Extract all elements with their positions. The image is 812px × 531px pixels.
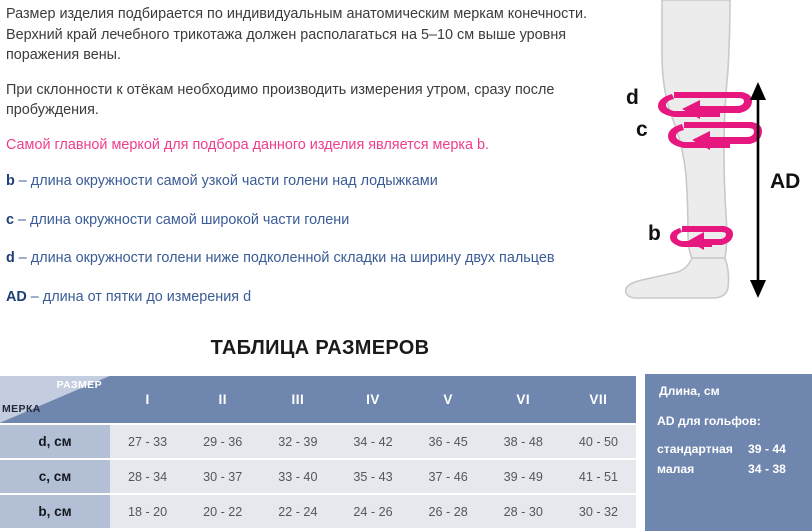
size-table: РАЗМЕР МЕРКА I II III IV V VI VII d, см … xyxy=(0,374,636,530)
cell-c-1: 28 - 34 xyxy=(110,460,185,493)
cell-c-7: 41 - 51 xyxy=(561,460,636,493)
ad-length-arrow-icon xyxy=(750,82,766,298)
cell-d-6: 38 - 48 xyxy=(486,425,561,458)
cell-d-5: 36 - 45 xyxy=(411,425,486,458)
length-row-small-value: 34 - 38 xyxy=(748,462,800,476)
measure-definition-d: d – длина окружности голени ниже подколе… xyxy=(6,248,598,269)
measure-dash-ad: – xyxy=(27,289,43,305)
intro-paragraph-1: Размер изделия подбирается по индивидуал… xyxy=(6,4,598,66)
leg-silhouette-icon xyxy=(626,0,730,298)
measure-key-ad: AD xyxy=(6,289,27,305)
length-row-standard-value: 39 - 44 xyxy=(748,442,800,456)
measure-key-d: d xyxy=(6,250,15,266)
length-info-panel: Длина, см AD для гольфов: стандартная 39… xyxy=(645,374,812,531)
cell-b-2: 20 - 22 xyxy=(185,495,260,528)
diagram-label-d: d xyxy=(626,86,639,109)
measure-key-b: b xyxy=(6,173,15,189)
cell-b-3: 22 - 24 xyxy=(260,495,335,528)
measure-dash-b: – xyxy=(15,173,31,189)
column-header-5: V xyxy=(411,376,486,423)
cell-c-2: 30 - 37 xyxy=(185,460,260,493)
row-label-c: c, см xyxy=(0,460,110,493)
diagram-label-ad: AD xyxy=(770,170,800,193)
diagram-label-c: c xyxy=(636,118,648,141)
corner-measure-label: МЕРКА xyxy=(2,403,41,415)
cell-b-4: 24 - 26 xyxy=(335,495,410,528)
table-row: b, см 18 - 20 20 - 22 22 - 24 24 - 26 26… xyxy=(0,495,636,528)
measure-key-c: c xyxy=(6,212,14,228)
measure-dash-d: – xyxy=(15,250,31,266)
cell-d-4: 34 - 42 xyxy=(335,425,410,458)
cell-d-2: 29 - 36 xyxy=(185,425,260,458)
measure-definition-b: b – длина окружности самой узкой части г… xyxy=(6,171,598,192)
table-row: c, см 28 - 34 30 - 37 33 - 40 35 - 43 37… xyxy=(0,460,636,493)
cell-d-7: 40 - 50 xyxy=(561,425,636,458)
row-label-b: b, см xyxy=(0,495,110,528)
cell-c-3: 33 - 40 xyxy=(260,460,335,493)
measure-dash-c: – xyxy=(14,212,30,228)
diagram-label-b: b xyxy=(648,222,661,245)
cell-c-6: 39 - 49 xyxy=(486,460,561,493)
length-row-small: малая 34 - 38 xyxy=(657,462,800,476)
column-header-3: III xyxy=(260,376,335,423)
column-header-2: II xyxy=(185,376,260,423)
cell-c-5: 37 - 46 xyxy=(411,460,486,493)
column-header-6: VI xyxy=(486,376,561,423)
cell-d-3: 32 - 39 xyxy=(260,425,335,458)
leg-measurement-diagram: d c b AD xyxy=(600,0,812,320)
measure-definition-c: c – длина окружности самой широкой части… xyxy=(6,210,598,231)
length-panel-title: Длина, см xyxy=(659,384,800,398)
measure-text-ad: длина от пятки до измерения d xyxy=(43,289,251,305)
corner-size-label: РАЗМЕР xyxy=(57,379,102,391)
row-label-d: d, см xyxy=(0,425,110,458)
cell-b-5: 26 - 28 xyxy=(411,495,486,528)
cell-b-1: 18 - 20 xyxy=(110,495,185,528)
cell-d-1: 27 - 33 xyxy=(110,425,185,458)
cell-c-4: 35 - 43 xyxy=(335,460,410,493)
size-table-title: ТАБЛИЦА РАЗМЕРОВ xyxy=(0,337,640,360)
length-row-small-name: малая xyxy=(657,462,694,476)
length-row-standard-name: стандартная xyxy=(657,442,733,456)
size-table-header-row: РАЗМЕР МЕРКА I II III IV V VI VII xyxy=(0,376,636,423)
instructions-panel: Размер изделия подбирается по индивидуал… xyxy=(6,4,598,325)
measure-definition-ad: AD – длина от пятки до измерения d xyxy=(6,287,598,308)
table-corner-header: РАЗМЕР МЕРКА xyxy=(0,376,110,423)
key-measure-highlight: Самой главной меркой для подбора данного… xyxy=(6,135,598,156)
intro-paragraph-2: При склонности к отёкам необходимо произ… xyxy=(6,80,598,121)
measure-text-b: длина окружности самой узкой части голен… xyxy=(31,173,438,189)
cell-b-7: 30 - 32 xyxy=(561,495,636,528)
measure-text-c: длина окружности самой широкой части гол… xyxy=(30,212,349,228)
column-header-7: VII xyxy=(561,376,636,423)
length-row-standard: стандартная 39 - 44 xyxy=(657,442,800,456)
length-panel-subtitle: AD для гольфов: xyxy=(657,414,800,428)
column-header-4: IV xyxy=(335,376,410,423)
cell-b-6: 28 - 30 xyxy=(486,495,561,528)
column-header-1: I xyxy=(110,376,185,423)
measure-text-d: длина окружности голени ниже подколенной… xyxy=(31,250,555,266)
table-row: d, см 27 - 33 29 - 36 32 - 39 34 - 42 36… xyxy=(0,425,636,458)
